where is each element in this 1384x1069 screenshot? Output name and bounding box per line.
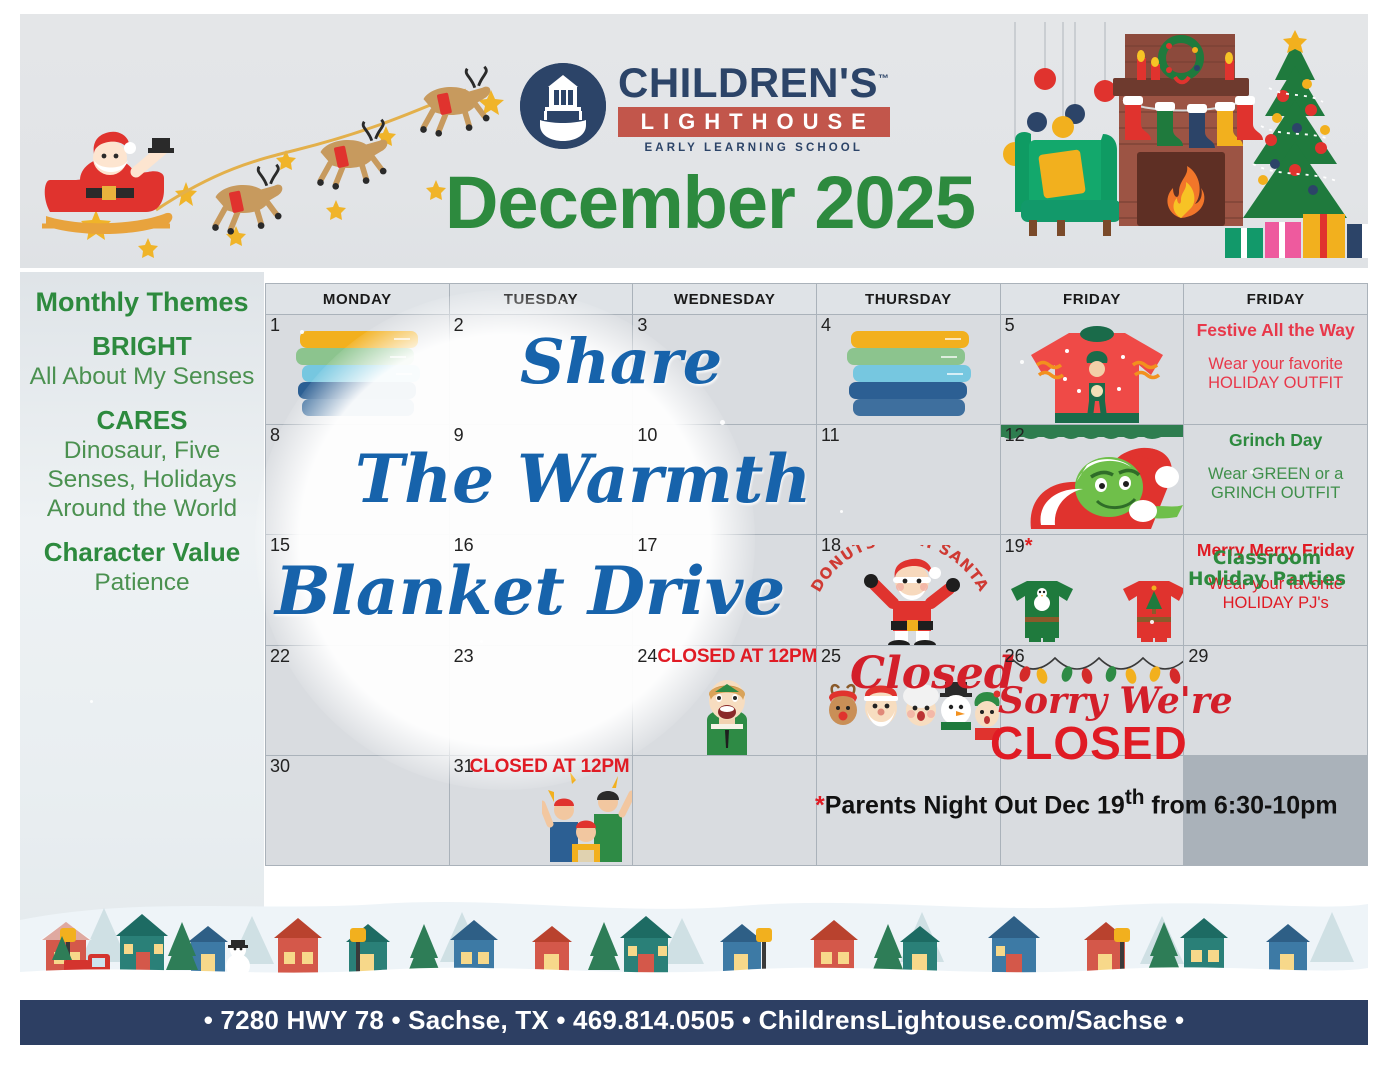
closed-notice: CLOSED AT 12PM <box>657 646 816 668</box>
day-number: 1 <box>270 316 280 334</box>
day-number: 22 <box>270 647 290 665</box>
dow-thursday: THURSDAY <box>817 284 1000 314</box>
buddy-the-elf-icon <box>685 680 769 755</box>
day-cell-16[interactable]: 16 <box>450 535 633 644</box>
note-text-after: from 6:30-10pm <box>1144 791 1337 819</box>
day-cell-15[interactable]: 15 <box>266 535 449 644</box>
day-number: 25 <box>821 647 841 665</box>
asterisk-marker: * <box>1025 535 1033 557</box>
day-number: 15 <box>270 536 290 554</box>
theme-body: Wear your favorite HOLIDAY OUTFIT <box>1190 355 1361 393</box>
day-cell-1[interactable]: 1 <box>266 315 449 424</box>
day-number: 16 <box>454 536 474 554</box>
footer-contact-text: • 7280 HWY 78 • Sachse, TX • 469.814.050… <box>204 1005 1185 1036</box>
theme-body-character-value: Patience <box>28 569 256 598</box>
day-number: 19* <box>1005 536 1033 556</box>
day-number: 2 <box>454 316 464 334</box>
holiday-pajamas-icon <box>1119 577 1184 643</box>
brand-tagline: EARLY LEARNING SCHOOL <box>618 142 890 154</box>
note-superscript: th <box>1125 786 1145 809</box>
day-cell-2[interactable]: 2 <box>450 315 633 424</box>
brand-subname: LIGHTHOUSE <box>618 107 890 136</box>
dow-monday: MONDAY <box>266 284 449 314</box>
day-cell-4[interactable]: 4 <box>817 315 1000 424</box>
day-number: 12 <box>1005 426 1025 444</box>
grinch-icon <box>1001 425 1184 529</box>
day-number: 18 <box>821 536 841 554</box>
day-cell-9[interactable]: 9 <box>450 425 633 534</box>
brand-name: CHILDREN'S™ <box>618 62 890 104</box>
day-number: 23 <box>454 647 474 665</box>
santa-waving-icon <box>857 557 967 644</box>
celebration-family-icon <box>542 772 633 862</box>
day-cell-10[interactable]: 10 <box>633 425 816 534</box>
sidebar-heading: Monthly Themes <box>28 288 256 318</box>
theme-body-cares: Dinosaur, Five Senses, Holidays Around t… <box>28 437 256 524</box>
day-number: 29 <box>1188 647 1208 665</box>
page-title: December 2025 <box>400 166 1020 240</box>
dow-friday: FRIDAY <box>1001 284 1184 314</box>
day-cell-5[interactable]: 5 <box>1001 315 1184 424</box>
brand-logo: CHILDREN'S™ LIGHTHOUSE EARLY LEARNING SC… <box>520 52 890 160</box>
day-number: 24 <box>637 647 657 665</box>
trademark-symbol: ™ <box>878 73 890 85</box>
day-number: 4 <box>821 316 831 334</box>
parents-night-out-note: *Parents Night Out Dec 19th from 6:30-10… <box>815 786 1338 820</box>
dow-friday-themes: FRIDAY <box>1184 284 1367 314</box>
theme-cell-grinch[interactable]: Grinch Day Wear GREEN or a GRINCH OUTFIT <box>1184 425 1367 534</box>
day-cell-31[interactable]: 31 CLOSED AT 12PM <box>450 756 633 865</box>
day-number: 5 <box>1005 316 1015 334</box>
day-number: 30 <box>270 757 290 775</box>
day-number: 26 <box>1005 647 1025 665</box>
dow-tuesday: TUESDAY <box>450 284 633 314</box>
day-number: 31 <box>454 757 474 775</box>
classroom-holiday-parties-label: Classroom Holiday Parties <box>1178 548 1356 591</box>
lighthouse-icon <box>520 63 606 149</box>
folded-blankets-icon <box>294 329 424 421</box>
closed-script-25: Closed <box>850 648 1015 699</box>
header-banner: CHILDREN'S™ LIGHTHOUSE EARLY LEARNING SC… <box>20 14 1368 268</box>
day-cell-24[interactable]: 24 CLOSED AT 12PM Christmas Movie Mar <box>633 646 816 755</box>
holiday-scene-icon <box>985 22 1368 268</box>
day-cell-11[interactable]: 11 <box>817 425 1000 534</box>
theme-title-cares: CARES <box>28 406 256 435</box>
day-cell-12[interactable]: 12 <box>1001 425 1184 534</box>
ugly-sweater-icon <box>1027 321 1167 424</box>
day-cell-3[interactable]: 3 <box>633 315 816 424</box>
day-number: 11 <box>821 426 840 444</box>
day-cell-empty-1 <box>633 756 816 865</box>
closed-label-26: CLOSED <box>990 716 1188 770</box>
theme-body: Wear GREEN or a GRINCH OUTFIT <box>1190 465 1361 503</box>
day-cell-19[interactable]: 19* <box>1001 535 1184 644</box>
day-number: 10 <box>637 426 657 444</box>
day-cell-18[interactable]: 18 <box>817 535 1000 644</box>
folded-blankets-icon <box>845 329 975 421</box>
note-text: Parents Night Out Dec 19 <box>825 791 1125 819</box>
day-number: 9 <box>454 426 464 444</box>
theme-title: Grinch Day <box>1190 431 1361 451</box>
day-cell-17[interactable]: 17 <box>633 535 816 644</box>
closed-notice: CLOSED AT 12PM <box>470 756 630 778</box>
monthly-themes-sidebar: Monthly Themes BRIGHT All About My Sense… <box>20 272 264 1000</box>
day-cell-23[interactable]: 23 <box>450 646 633 755</box>
footer-bar: • 7280 HWY 78 • Sachse, TX • 469.814.050… <box>20 995 1368 1045</box>
calendar-page: CHILDREN'S™ LIGHTHOUSE EARLY LEARNING SC… <box>0 0 1384 1069</box>
holiday-pajamas-icon <box>1007 577 1077 643</box>
day-cell-8[interactable]: 8 <box>266 425 449 534</box>
theme-body-bright: All About My Senses <box>28 363 256 392</box>
theme-title-character-value: Character Value <box>28 538 256 567</box>
day-number: 8 <box>270 426 280 444</box>
day-cell-30[interactable]: 30 <box>266 756 449 865</box>
note-asterisk: * <box>815 791 825 819</box>
theme-cell-festive[interactable]: Festive All the Way Wear your favorite H… <box>1184 315 1367 424</box>
day-number: 3 <box>637 316 647 334</box>
day-cell-22[interactable]: 22 <box>266 646 449 755</box>
dow-wednesday: WEDNESDAY <box>633 284 816 314</box>
theme-title-bright: BRIGHT <box>28 332 256 361</box>
theme-title: Festive All the Way <box>1190 321 1361 341</box>
day-number: 17 <box>637 536 657 554</box>
